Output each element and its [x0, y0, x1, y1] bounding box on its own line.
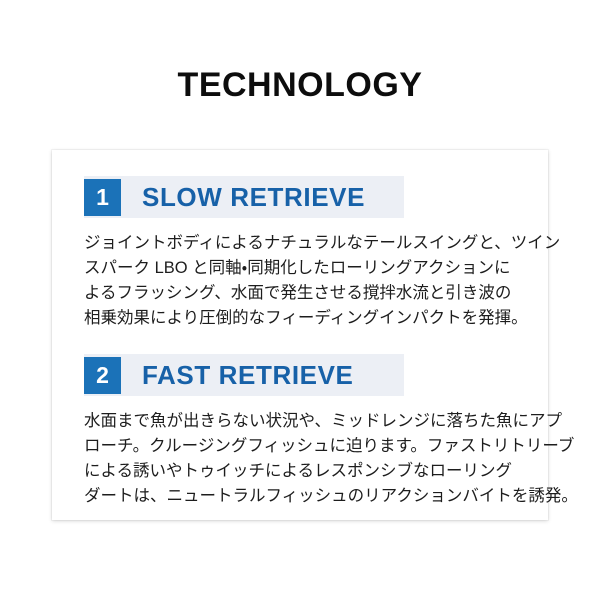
section-heading-2: FAST RETRIEVE: [142, 362, 354, 388]
body-line: による誘いやトゥイッチによるレスポンシブなローリング: [84, 459, 520, 484]
section-fast-retrieve: 2 FAST RETRIEVE 水面まで魚が出きらない状況や、ミッドレンジに落ち…: [52, 354, 548, 509]
body-line: よるフラッシング、水面で発生させる撹拌水流と引き波の: [84, 281, 520, 306]
section-header-1: 1 SLOW RETRIEVE: [84, 176, 404, 218]
section-header-2: 2 FAST RETRIEVE: [84, 354, 404, 396]
section-heading-1: SLOW RETRIEVE: [142, 184, 365, 210]
section-slow-retrieve: 1 SLOW RETRIEVE ジョイントボディによるナチュラルなテールスイング…: [52, 176, 548, 331]
technology-page: TECHNOLOGY 1 SLOW RETRIEVE ジョイントボディによるナチ…: [0, 0, 600, 600]
body-line: スパーク LBO と同軸・同期化したローリングアクションに: [84, 256, 520, 281]
section-number-badge-2: 2: [84, 357, 121, 394]
body-line: 相乗効果により圧倒的なフィーディングインパクトを発揮。: [84, 306, 520, 331]
page-title: TECHNOLOGY: [0, 68, 600, 102]
section-body-2: 水面まで魚が出きらない状況や、ミッドレンジに落ちた魚にアプ ローチ。クルージング…: [84, 409, 520, 509]
body-line: ジョイントボディによるナチュラルなテールスイングと、ツイン: [84, 231, 520, 256]
body-line: ダートは、ニュートラルフィッシュのリアクションバイトを誘発。: [84, 484, 520, 509]
section-number-badge-1: 1: [84, 179, 121, 216]
technology-card: 1 SLOW RETRIEVE ジョイントボディによるナチュラルなテールスイング…: [52, 150, 548, 520]
section-body-1: ジョイントボディによるナチュラルなテールスイングと、ツイン スパーク LBO と…: [84, 231, 520, 331]
body-line: ローチ。クルージングフィッシュに迫ります。ファストリトリーブ: [84, 434, 520, 459]
body-line: 水面まで魚が出きらない状況や、ミッドレンジに落ちた魚にアプ: [84, 409, 520, 434]
